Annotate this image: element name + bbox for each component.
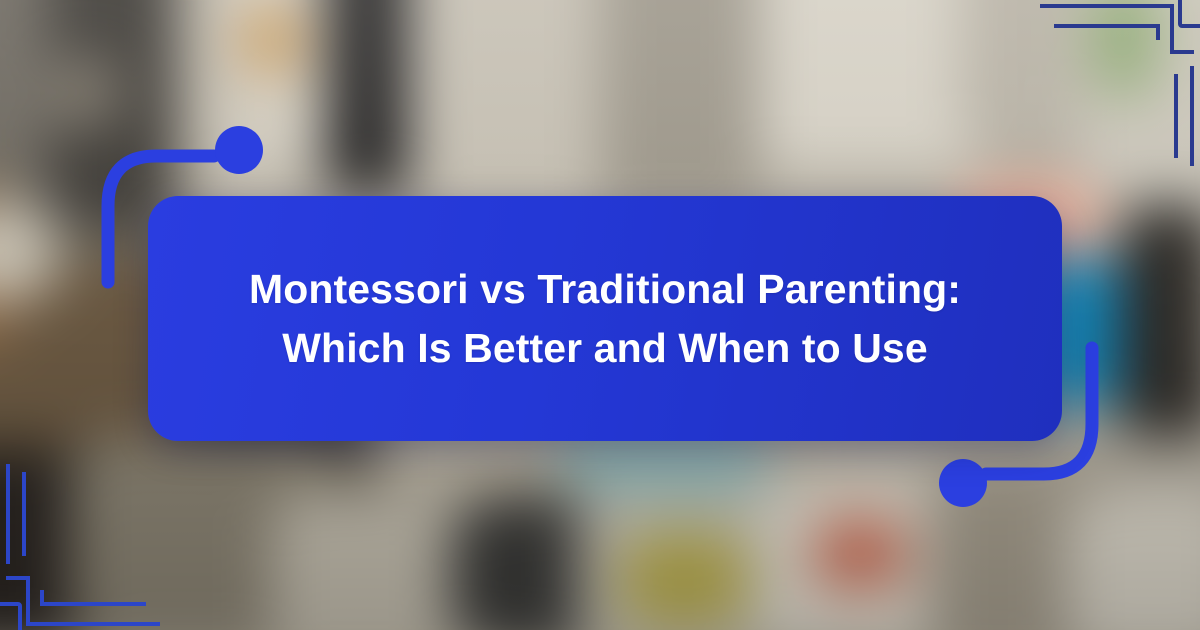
accent-dot-top-icon	[215, 126, 263, 174]
page-title-line-2: Which Is Better and When to Use	[249, 319, 961, 377]
accent-dot-bottom-icon	[939, 459, 987, 507]
title-card: Montessori vs Traditional Parenting: Whi…	[148, 196, 1062, 441]
circuit-trace-bottom-left-icon	[0, 460, 170, 630]
circuit-trace-top-right-icon	[1030, 0, 1200, 170]
page-title: Montessori vs Traditional Parenting: Whi…	[249, 260, 961, 376]
og-image-canvas: Montessori vs Traditional Parenting: Whi…	[0, 0, 1200, 630]
page-title-line-1: Montessori vs Traditional Parenting:	[249, 260, 961, 318]
